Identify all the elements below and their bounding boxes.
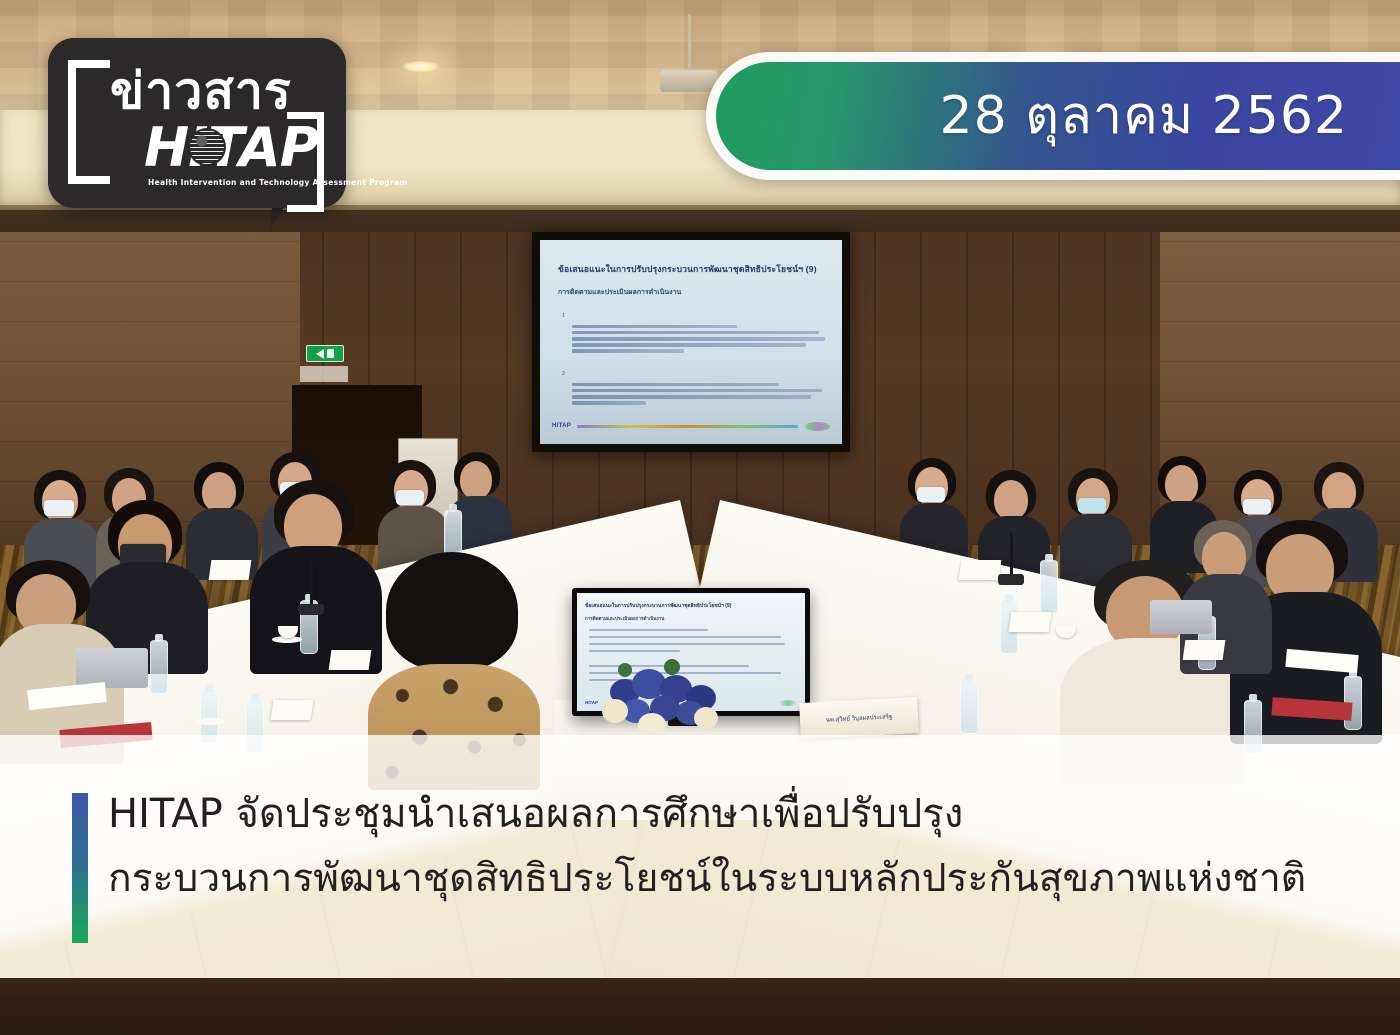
exit-sign-plate (300, 366, 348, 382)
caption-accent-bar (72, 793, 88, 943)
table-nameplate (959, 560, 1002, 580)
slide-text-line (572, 331, 819, 335)
slide-footer-bar (577, 425, 798, 428)
laptop (76, 648, 148, 688)
slide-footer-blob (804, 422, 830, 431)
hitap-logo: HITAP (144, 122, 318, 173)
date-text: 28 ตุลาคม 2562 (940, 90, 1348, 142)
projection-screen: ข้อเสนอแนะในการปรับปรุงกระบวนการพัฒนาชุด… (540, 240, 842, 444)
ceiling-light (400, 60, 442, 73)
news-label: ข่าวสาร (110, 66, 292, 116)
globe-icon (190, 130, 224, 164)
hitap-tagline: Health Intervention and Technology Asses… (148, 178, 348, 187)
caption-line-2: กระบวนการพัฒนาชุดสิทธิประโยชน์ในระบบหลัก… (108, 847, 1390, 910)
slide-subtitle: การติดตามและประเมินผลการดำเนินงาน (558, 287, 830, 298)
news-badge: ข่าวสาร HITAP Health Intervention and Te… (48, 38, 346, 208)
slide-bullet-number: 2 (562, 371, 565, 377)
ceiling-projector (660, 70, 718, 92)
exit-sign-icon (306, 345, 344, 362)
monitor-slide-subtitle: การติดตามและประเมินผลการดำเนินงาน (585, 615, 664, 622)
caption-text: HITAP จัดประชุมนำเสนอผลการศึกษาเพื่อปรับ… (108, 782, 1390, 910)
slide-text-line (572, 325, 737, 329)
table-nameplate (329, 650, 372, 670)
slide-title: ข้อเสนอแนะในการปรับปรุงกระบวนการพัฒนาชุด… (558, 262, 830, 276)
water-bottle (960, 680, 978, 734)
date-banner: 28 ตุลาคม 2562 (706, 52, 1400, 180)
slide-bullet-number: 1 (562, 313, 565, 319)
table-nameplate (1183, 640, 1226, 660)
microphone-base (998, 574, 1024, 585)
slide-body: 1 2 (562, 304, 828, 414)
hitap-wordmark: HITAP (144, 122, 318, 173)
monitor-slide-title: ข้อเสนอแนะในการปรับปรุงกระบวนการพัฒนาชุด… (585, 602, 799, 610)
water-bottle (150, 640, 168, 694)
speaker-nameplate-text: นพ.สุวิทย์ วิบุลผลประเสริฐ (826, 711, 893, 724)
slide-footer-logo: HITAP (552, 423, 571, 429)
table-nameplate (1009, 612, 1052, 632)
table-nameplate (271, 700, 314, 720)
slide-text-line (572, 337, 825, 341)
flower-arrangement (598, 655, 738, 735)
slide-text-line (572, 383, 779, 387)
slide-bullet: 1 (562, 304, 828, 353)
microphone-base (298, 604, 324, 615)
monitor-footer-logo: HITAP (585, 700, 598, 705)
water-bottle (1040, 560, 1058, 614)
slide-text-line (572, 395, 811, 399)
speaker-nameplate: นพ.สุวิทย์ วิบุลผลประเสริฐ (799, 697, 919, 739)
slide-text-line (572, 343, 806, 347)
slide-text-line (572, 349, 684, 353)
saucer (196, 718, 226, 725)
slide-text-line (572, 389, 822, 393)
table-nameplate (209, 560, 252, 580)
projector-rod (688, 14, 691, 72)
bottom-strip (0, 978, 1400, 1035)
news-banner-image: ข้อเสนอแนะในการปรับปรุงกระบวนการพัฒนาชุด… (0, 0, 1400, 1035)
caption-line-1: HITAP จัดประชุมนำเสนอผลการศึกษาเพื่อปรับ… (108, 782, 1390, 847)
slide-footer: HITAP (552, 421, 830, 431)
microphone (1010, 532, 1013, 576)
laptop (1150, 600, 1212, 634)
slide-text-line (572, 401, 646, 405)
slide-bullet: 2 (562, 362, 828, 405)
microphone (310, 560, 313, 606)
date-banner-fill: 28 ตุลาคม 2562 (716, 62, 1400, 170)
bracket-left (68, 60, 110, 184)
